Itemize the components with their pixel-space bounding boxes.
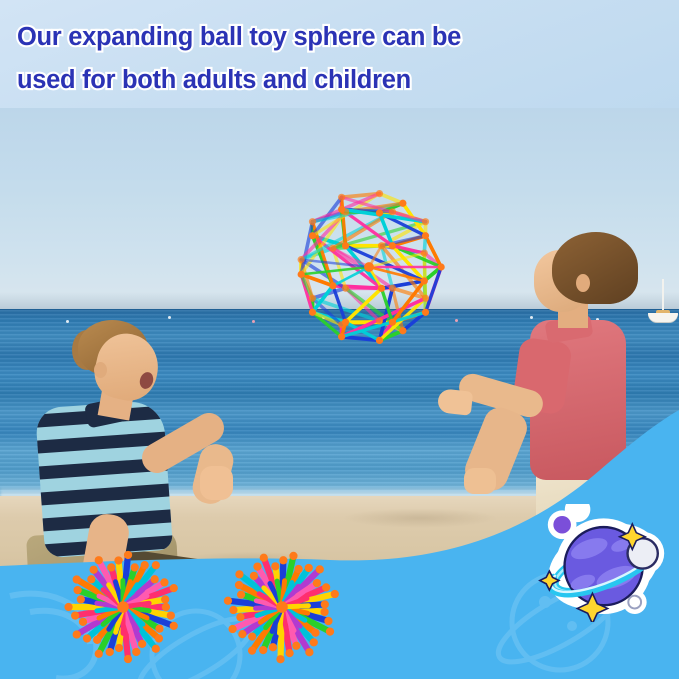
buoy (252, 320, 255, 323)
buoy (455, 319, 458, 322)
contracted-ball-right (216, 541, 348, 673)
contracted-ball-left (57, 541, 189, 673)
header-banner: Our expanding ball toy sphere can be use… (0, 0, 679, 108)
product-image: Our expanding ball toy sphere can be use… (0, 0, 679, 679)
planet-dot-icon (553, 516, 571, 534)
expanded-sphere-ball (287, 185, 451, 349)
headline-text: Our expanding ball toy sphere can be use… (17, 16, 667, 102)
planet-sticker (538, 504, 674, 622)
